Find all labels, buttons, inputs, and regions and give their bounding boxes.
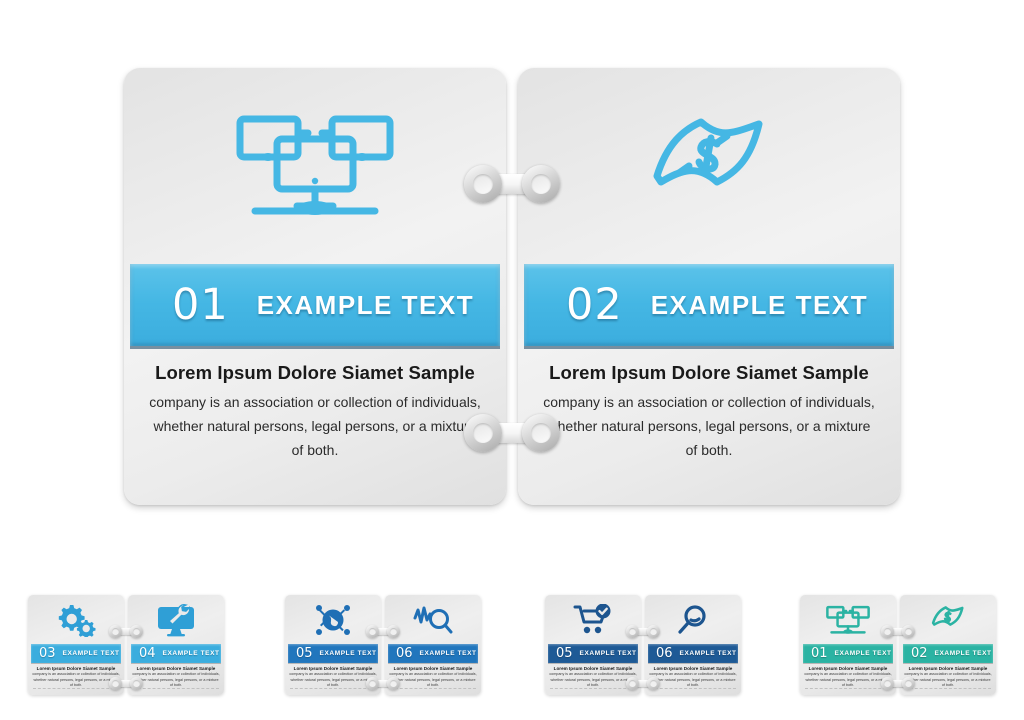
- card-body-title: Lorem Ipsum Dolore Siamet Sample: [146, 362, 484, 384]
- card-number: 02: [566, 280, 623, 330]
- thumbnail-body: Lorem Ipsum Dolore Siamet Sample company…: [549, 666, 637, 689]
- thumbnail-divider: [390, 688, 476, 689]
- card-banner: 01 EXAMPLE TEXT: [130, 264, 500, 346]
- thumbnail-number: 02: [911, 646, 928, 661]
- thumbnail-body-text: company is an association or collection …: [32, 672, 120, 689]
- network-monitors-icon: [124, 68, 506, 264]
- thumbnail-body-title: Lorem Ipsum Dolore Siamet Sample: [549, 666, 637, 671]
- thumbnail-banner: 01 EXAMPLE TEXT: [803, 644, 893, 663]
- thumbnail-body-title: Lorem Ipsum Dolore Siamet Sample: [289, 666, 377, 671]
- connector-ring-left: [109, 677, 122, 690]
- thumbnail-body: Lorem Ipsum Dolore Siamet Sample company…: [132, 666, 220, 689]
- thumbnail-body-text: company is an association or collection …: [649, 672, 737, 689]
- card-banner: 02 EXAMPLE TEXT: [524, 264, 894, 346]
- card-label: EXAMPLE TEXT: [257, 290, 474, 321]
- thumbnail-body-text: company is an association or collection …: [804, 672, 892, 689]
- connector-ring-left: [366, 677, 379, 690]
- connector-ring-left: [366, 625, 379, 638]
- thumbnail-body-title: Lorem Ipsum Dolore Siamet Sample: [389, 666, 477, 671]
- thumbnail-banner: 05 EXAMPLE TEXT: [288, 644, 378, 663]
- thumbnail-connector-bottom: [626, 677, 660, 690]
- thumbnail-banner: 02 EXAMPLE TEXT: [903, 644, 993, 663]
- thumbnail-body-title: Lorem Ipsum Dolore Siamet Sample: [649, 666, 737, 671]
- banknote-dollar-icon: [518, 68, 900, 264]
- thumbnail-banner: 04 EXAMPLE TEXT: [131, 644, 221, 663]
- main-card-pair: 01 EXAMPLE TEXT Lorem Ipsum Dolore Siame…: [124, 68, 900, 505]
- thumbnail-connector-top: [626, 625, 660, 638]
- thumbnail-body-title: Lorem Ipsum Dolore Siamet Sample: [904, 666, 992, 671]
- thumbnail-body-text: company is an association or collection …: [904, 672, 992, 689]
- connector-ring-right: [130, 625, 143, 638]
- thumbnail-divider: [550, 688, 636, 689]
- card-body-text: company is an association or collection …: [540, 390, 878, 462]
- card-body-text: company is an association or collection …: [146, 390, 484, 462]
- thumbnail-connector-top: [109, 625, 143, 638]
- thumbnail-connector-top: [366, 625, 400, 638]
- thumbnail-body: Lorem Ipsum Dolore Siamet Sample company…: [32, 666, 120, 689]
- connector-ring-right: [647, 625, 660, 638]
- thumbnail-divider: [133, 688, 219, 689]
- thumbnail-label: EXAMPLE TEXT: [320, 650, 377, 657]
- thumbnail-set-3[interactable]: 05 EXAMPLE TEXT Lorem Ipsum Dolore Siame…: [545, 595, 741, 695]
- main-card-01[interactable]: 01 EXAMPLE TEXT Lorem Ipsum Dolore Siame…: [124, 68, 506, 505]
- thumbnail-number: 06: [656, 646, 673, 661]
- connector-ring-left: [626, 625, 639, 638]
- thumbnail-body: Lorem Ipsum Dolore Siamet Sample company…: [904, 666, 992, 689]
- thumbnail-label: EXAMPLE TEXT: [935, 650, 992, 657]
- card-body: Lorem Ipsum Dolore Siamet Sample company…: [518, 354, 900, 505]
- connector-ring-left: [109, 625, 122, 638]
- thumbnail-divider: [650, 688, 736, 689]
- thumbnail-connector-top: [881, 625, 915, 638]
- connector-ring-right: [387, 625, 400, 638]
- card-label: EXAMPLE TEXT: [651, 290, 868, 321]
- thumbnail-number: 06: [396, 646, 413, 661]
- thumbnail-body-title: Lorem Ipsum Dolore Siamet Sample: [32, 666, 120, 671]
- thumbnail-banner: 05 EXAMPLE TEXT: [548, 644, 638, 663]
- thumbnail-number: 05: [296, 646, 313, 661]
- thumbnail-connector-bottom: [109, 677, 143, 690]
- thumbnail-body-text: company is an association or collection …: [289, 672, 377, 689]
- thumbnail-divider: [805, 688, 891, 689]
- thumbnail-set-4[interactable]: 01 EXAMPLE TEXT Lorem Ipsum Dolore Siame…: [800, 595, 996, 695]
- thumbnail-banner: 03 EXAMPLE TEXT: [31, 644, 121, 663]
- card-body-title: Lorem Ipsum Dolore Siamet Sample: [540, 362, 878, 384]
- thumbnail-label: EXAMPLE TEXT: [680, 650, 737, 657]
- thumbnail-connector-bottom: [881, 677, 915, 690]
- thumbnail-banner: 06 EXAMPLE TEXT: [648, 644, 738, 663]
- connector-ring-right: [902, 625, 915, 638]
- thumbnail-label: EXAMPLE TEXT: [835, 650, 892, 657]
- connector-ring-left: [626, 677, 639, 690]
- thumbnail-divider: [290, 688, 376, 689]
- thumbnail-label: EXAMPLE TEXT: [63, 650, 120, 657]
- thumbnail-body-title: Lorem Ipsum Dolore Siamet Sample: [804, 666, 892, 671]
- infographic-canvas: 01 EXAMPLE TEXT Lorem Ipsum Dolore Siame…: [0, 0, 1024, 720]
- thumbnail-body-text: company is an association or collection …: [389, 672, 477, 689]
- connector-ring-right: [387, 677, 400, 690]
- connector-ring-left: [881, 677, 894, 690]
- connector-ring-right: [647, 677, 660, 690]
- thumbnail-set-2[interactable]: 05 EXAMPLE TEXT Lorem Ipsum Dolore Siame…: [285, 595, 481, 695]
- thumbnail-connector-bottom: [366, 677, 400, 690]
- thumbnail-body: Lorem Ipsum Dolore Siamet Sample company…: [804, 666, 892, 689]
- thumbnail-label: EXAMPLE TEXT: [163, 650, 220, 657]
- thumbnail-divider: [905, 688, 991, 689]
- connector-ring-right: [130, 677, 143, 690]
- main-card-02[interactable]: 02 EXAMPLE TEXT Lorem Ipsum Dolore Siame…: [518, 68, 900, 505]
- connector-ring-right: [902, 677, 915, 690]
- thumbnail-number: 05: [556, 646, 573, 661]
- card-body: Lorem Ipsum Dolore Siamet Sample company…: [124, 354, 506, 505]
- thumbnail-body: Lorem Ipsum Dolore Siamet Sample company…: [649, 666, 737, 689]
- thumbnail-body: Lorem Ipsum Dolore Siamet Sample company…: [289, 666, 377, 689]
- thumbnail-number: 03: [39, 646, 56, 661]
- thumbnail-number: 04: [139, 646, 156, 661]
- thumbnail-banner: 06 EXAMPLE TEXT: [388, 644, 478, 663]
- connector-ring-left: [881, 625, 894, 638]
- thumbnail-body-text: company is an association or collection …: [132, 672, 220, 689]
- thumbnail-number: 01: [811, 646, 828, 661]
- thumbnail-label: EXAMPLE TEXT: [420, 650, 477, 657]
- thumbnail-label: EXAMPLE TEXT: [580, 650, 637, 657]
- thumbnail-body-text: company is an association or collection …: [549, 672, 637, 689]
- thumbnail-set-1[interactable]: 03 EXAMPLE TEXT Lorem Ipsum Dolore Siame…: [28, 595, 224, 695]
- card-number: 01: [172, 280, 229, 330]
- thumbnail-divider: [33, 688, 119, 689]
- thumbnail-body-title: Lorem Ipsum Dolore Siamet Sample: [132, 666, 220, 671]
- thumbnail-body: Lorem Ipsum Dolore Siamet Sample company…: [389, 666, 477, 689]
